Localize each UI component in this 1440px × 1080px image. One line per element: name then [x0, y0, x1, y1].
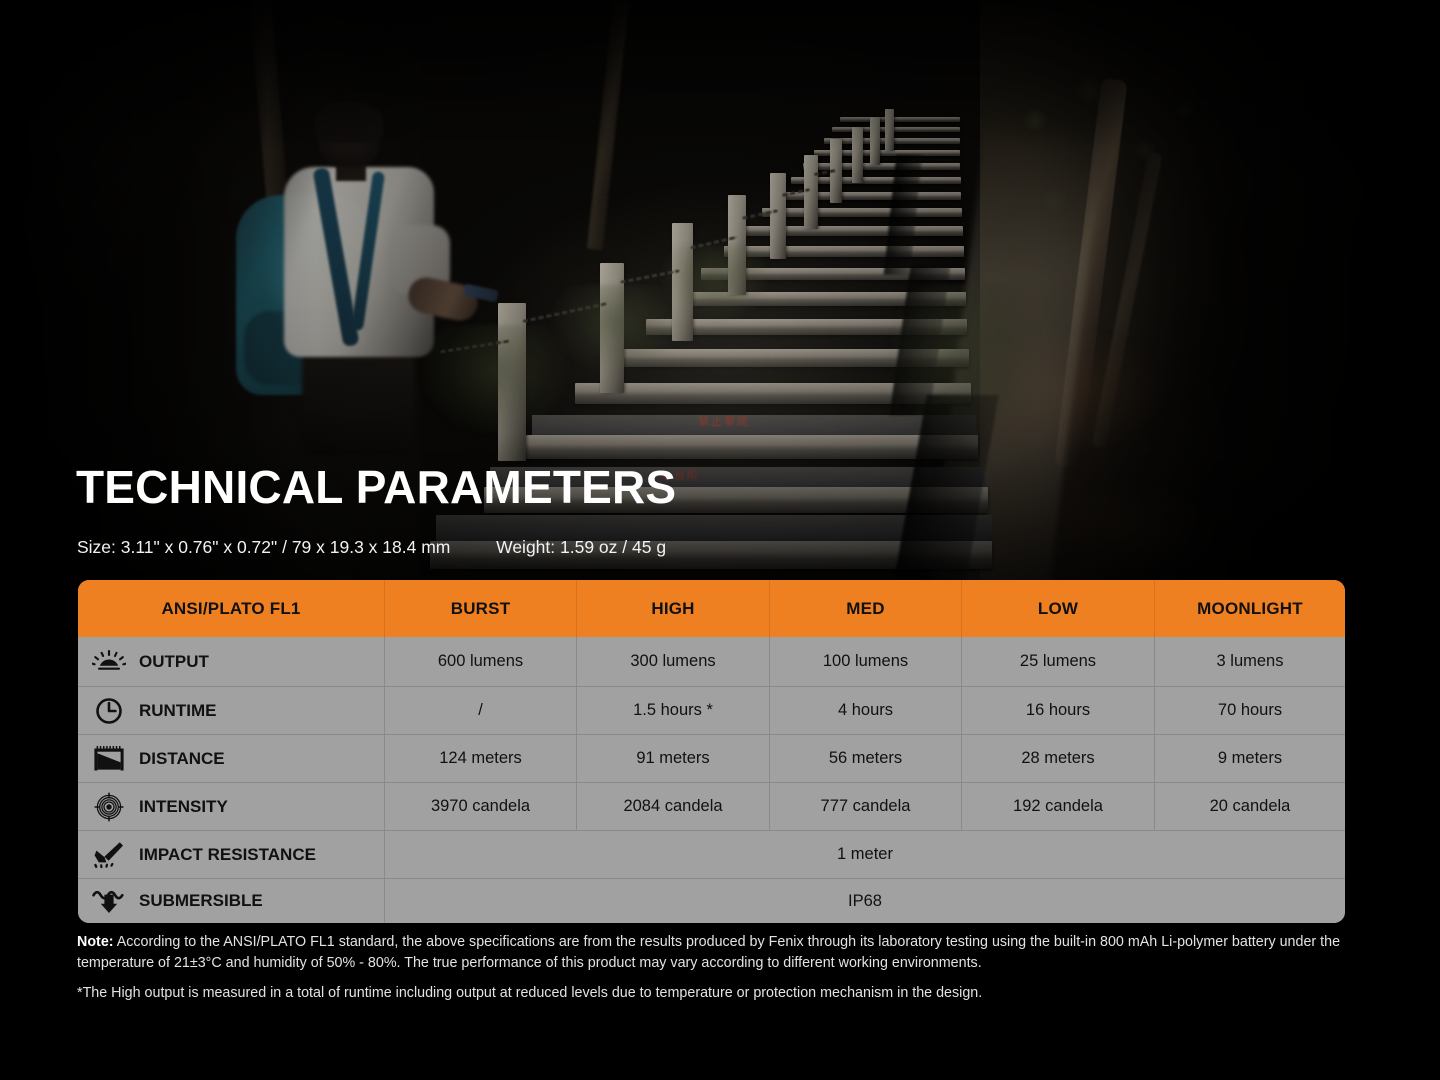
cell-output-high: 300 lumens: [577, 637, 770, 687]
row-label-impact-resistance: IMPACT RESISTANCE: [78, 831, 385, 879]
cell-runtime-low: 16 hours: [962, 687, 1155, 735]
table-row: OUTPUT 600 lumens 300 lumens 100 lumens …: [78, 637, 1345, 687]
column-header-burst: BURST: [385, 580, 577, 637]
column-header-low: LOW: [962, 580, 1155, 637]
cell-runtime-high: 1.5 hours *: [577, 687, 770, 735]
cell-submersible-value: IP68: [385, 879, 1345, 923]
table-row: DISTANCE 124 meters 91 meters 56 meters …: [78, 735, 1345, 783]
row-label-distance: DISTANCE: [78, 735, 385, 783]
clock-icon: [90, 696, 128, 726]
cell-intensity-burst: 3970 candela: [385, 783, 577, 831]
note-body: According to the ANSI/PLATO FL1 standard…: [77, 934, 1340, 971]
table-row: RUNTIME / 1.5 hours * 4 hours 16 hours 7…: [78, 687, 1345, 735]
cell-distance-moonlight: 9 meters: [1155, 735, 1345, 783]
column-header-standard: ANSI/PLATO FL1: [78, 580, 385, 637]
size-text: Size: 3.11" x 0.76" x 0.72" / 79 x 19.3 …: [77, 537, 450, 557]
footnote-paragraph: *The High output is measured in a total …: [77, 983, 1349, 1004]
note-label: Note:: [77, 934, 114, 950]
cell-intensity-moonlight: 20 candela: [1155, 783, 1345, 831]
cell-intensity-med: 777 candela: [770, 783, 962, 831]
cell-distance-high: 91 meters: [577, 735, 770, 783]
row-label-text: RUNTIME: [139, 701, 216, 721]
weight-text: Weight: 1.59 oz / 45 g: [496, 537, 666, 557]
size-weight-line: Size: 3.11" x 0.76" x 0.72" / 79 x 19.3 …: [77, 537, 666, 558]
row-label-output: OUTPUT: [78, 637, 385, 687]
table-row: IMPACT RESISTANCE 1 meter: [78, 831, 1345, 879]
cell-distance-med: 56 meters: [770, 735, 962, 783]
row-label-intensity: INTENSITY: [78, 783, 385, 831]
row-label-submersible: SUBMERSIBLE: [78, 879, 385, 923]
row-label-text: INTENSITY: [139, 797, 228, 817]
cell-runtime-moonlight: 70 hours: [1155, 687, 1345, 735]
table-header-row: ANSI/PLATO FL1 BURST HIGH MED LOW MOONLI…: [78, 580, 1345, 637]
target-intensity-icon: [90, 792, 128, 822]
submersible-icon: [90, 886, 128, 916]
technical-parameters-table: ANSI/PLATO FL1 BURST HIGH MED LOW MOONLI…: [78, 580, 1345, 923]
note-paragraph: Note: According to the ANSI/PLATO FL1 st…: [77, 932, 1349, 974]
row-label-runtime: RUNTIME: [78, 687, 385, 735]
column-header-high: HIGH: [577, 580, 770, 637]
cell-output-med: 100 lumens: [770, 637, 962, 687]
column-header-moonlight: MOONLIGHT: [1155, 580, 1345, 637]
page-title: TECHNICAL PARAMETERS: [76, 464, 676, 510]
cell-runtime-burst: /: [385, 687, 577, 735]
row-label-text: SUBMERSIBLE: [139, 891, 263, 911]
cell-output-low: 25 lumens: [962, 637, 1155, 687]
row-label-text: IMPACT RESISTANCE: [139, 845, 316, 865]
sunburst-icon: [90, 647, 128, 677]
table-row: INTENSITY 3970 candela 2084 candela 777 …: [78, 783, 1345, 831]
table-row: SUBMERSIBLE IP68: [78, 879, 1345, 923]
cell-distance-burst: 124 meters: [385, 735, 577, 783]
cell-intensity-low: 192 candela: [962, 783, 1155, 831]
cell-output-burst: 600 lumens: [385, 637, 577, 687]
content-layer: TECHNICAL PARAMETERS Size: 3.11" x 0.76"…: [0, 0, 1440, 1080]
row-label-text: OUTPUT: [139, 652, 209, 672]
row-label-text: DISTANCE: [139, 749, 225, 769]
column-header-med: MED: [770, 580, 962, 637]
cell-distance-low: 28 meters: [962, 735, 1155, 783]
cell-runtime-med: 4 hours: [770, 687, 962, 735]
cell-output-moonlight: 3 lumens: [1155, 637, 1345, 687]
cell-impact-resistance-value: 1 meter: [385, 831, 1345, 879]
impact-resistance-icon: [90, 840, 128, 870]
beam-distance-icon: [90, 744, 128, 774]
page-root: 禁止攀爬 小心台阶: [0, 0, 1440, 1080]
cell-intensity-high: 2084 candela: [577, 783, 770, 831]
